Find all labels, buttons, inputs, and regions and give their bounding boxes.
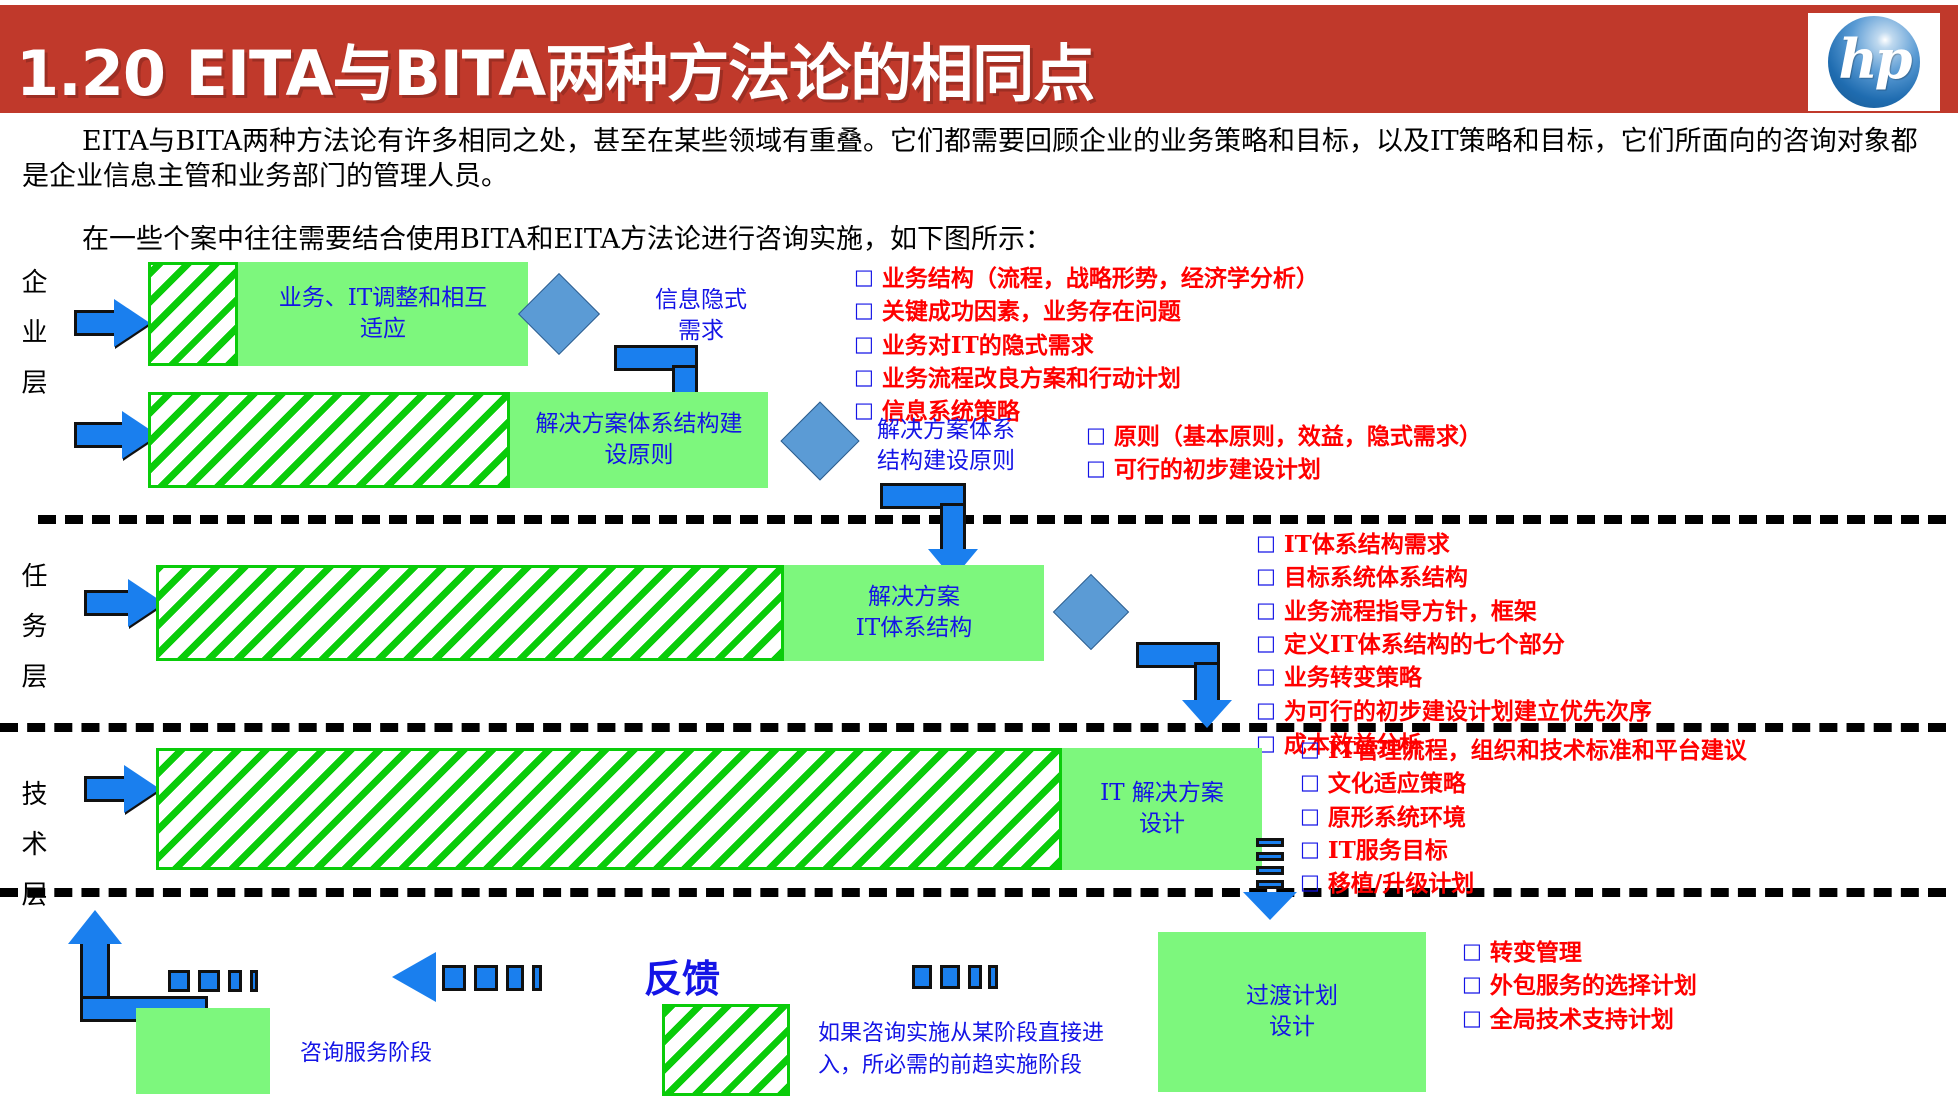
- bullet-box-icon: □: [1086, 453, 1106, 485]
- bullet-item: □业务流程改良方案和行动计划: [854, 362, 1319, 395]
- bullet-box-icon: □: [854, 295, 874, 327]
- feedback-right-dash-3: [968, 965, 982, 989]
- bullet-box-icon: □: [854, 329, 874, 361]
- gate-diamond-row3: [1053, 574, 1129, 650]
- bullet-box-icon: □: [1462, 969, 1482, 1001]
- bullet-box-icon: □: [1300, 834, 1320, 866]
- bullet-item: □IT管理流程，组织和技术标准和平台建议: [1300, 734, 1747, 767]
- bullet-item: □业务转变策略: [1256, 661, 1652, 694]
- bullet-item: □关键成功因素，业务存在问题: [854, 295, 1319, 328]
- bullet-item: □转变管理: [1462, 936, 1697, 969]
- gate-diamond-row1: [518, 273, 600, 355]
- bullet-list-task: □IT体系结构需求 □目标系统体系结构 □业务流程指导方针，框架 □定义IT体系…: [1256, 528, 1652, 761]
- bullet-box-icon: □: [1462, 936, 1482, 968]
- bullet-box-icon: □: [854, 362, 874, 394]
- feedback-left-dash-2: [474, 965, 498, 991]
- bullet-box-icon: □: [1300, 867, 1320, 899]
- bullet-box-icon: □: [1086, 420, 1106, 452]
- prerequisite-hatch-row1: [148, 262, 238, 366]
- feedback-dash-2: [198, 970, 220, 992]
- connector-label-info-implicit-need: 信息隐式 需求: [606, 285, 796, 347]
- prerequisite-hatch-row3: [156, 565, 784, 661]
- bullet-list-technical: □IT管理流程，组织和技术标准和平台建议 □文化适应策略 □原形系统环境 □IT…: [1300, 734, 1747, 901]
- bullet-box-icon: □: [1256, 628, 1276, 660]
- bullet-box-icon: □: [1256, 595, 1276, 627]
- feedback-left-dash-4: [532, 965, 542, 991]
- box-solution-arch-principle-label: 解决方案体系结构建 设原则: [536, 409, 743, 471]
- bullet-box-icon: □: [1300, 734, 1320, 766]
- layer-label-enterprise: 企 业 层: [14, 268, 51, 403]
- feedback-left-dash-1: [442, 965, 466, 991]
- bullet-item: □IT服务目标: [1300, 834, 1747, 867]
- box-transition-plan-design-label: 过渡计划 设计: [1246, 981, 1338, 1043]
- bullet-item: □全局技术支持计划: [1462, 1003, 1697, 1036]
- bullet-item: □原形系统环境: [1300, 801, 1747, 834]
- bullet-item: □为可行的初步建设计划建立优先次序: [1256, 695, 1652, 728]
- prerequisite-hatch-row2: [148, 392, 510, 488]
- bullet-box-icon: □: [854, 262, 874, 294]
- bullet-item: □业务流程指导方针，框架: [1256, 595, 1652, 628]
- feedback-right-dash-4: [988, 965, 998, 989]
- bullet-list-transition: □转变管理 □外包服务的选择计划 □全局技术支持计划: [1462, 936, 1697, 1036]
- bullet-box-icon: □: [1300, 801, 1320, 833]
- legend-swatch-consulting-phase: [136, 1008, 270, 1094]
- feedback-left-dash-3: [506, 965, 524, 991]
- bullet-box-icon: □: [1300, 767, 1320, 799]
- box-it-solution-design: IT 解决方案 设计: [1062, 748, 1262, 870]
- box-solution-it-arch: 解决方案 IT体系结构: [784, 565, 1044, 661]
- box-solution-it-arch-label: 解决方案 IT体系结构: [856, 582, 972, 644]
- connector-label-solution-arch-principle: 解决方案体系 结构建设原则: [856, 415, 1036, 477]
- separator-task-technical: [0, 723, 1946, 732]
- layer-label-task: 任 务 层: [14, 562, 51, 697]
- feedback-label: 反馈: [644, 948, 720, 1003]
- bullet-item: □目标系统体系结构: [1256, 561, 1652, 594]
- inbound-arrow-row1: [74, 300, 150, 346]
- feedback-right-dash-2: [940, 965, 960, 989]
- bullet-box-icon: □: [1256, 528, 1276, 560]
- feedback-dash-3: [228, 970, 242, 992]
- prerequisite-hatch-row4: [156, 748, 1062, 870]
- box-business-it-align-label: 业务、IT调整和相互 适应: [279, 283, 487, 345]
- bullet-item: □可行的初步建设计划: [1086, 453, 1482, 486]
- bullet-box-icon: □: [1256, 561, 1276, 593]
- inbound-arrow-row3: [84, 580, 166, 626]
- gate-diamond-row2: [780, 401, 859, 480]
- separator-enterprise-task: [38, 515, 1946, 524]
- legend-label-consulting-phase: 咨询服务阶段: [300, 1038, 432, 1070]
- bullet-item: □原则（基本原则，效益，隐式需求）: [1086, 420, 1482, 453]
- bullet-item: □业务结构（流程，战略形势，经济学分析）: [854, 262, 1319, 295]
- feedback-right-dash-1: [912, 965, 932, 989]
- box-transition-plan-design: 过渡计划 设计: [1158, 932, 1426, 1092]
- bullet-item: □IT体系结构需求: [1256, 528, 1652, 561]
- bullet-list-enterprise-2: □原则（基本原则，效益，隐式需求） □可行的初步建设计划: [1086, 420, 1482, 487]
- box-it-solution-design-label: IT 解决方案 设计: [1100, 778, 1224, 840]
- box-solution-arch-principle: 解决方案体系结构建 设原则: [510, 392, 768, 488]
- bullet-list-enterprise-1: □业务结构（流程，战略形势，经济学分析） □关键成功因素，业务存在问题 □业务对…: [854, 262, 1319, 429]
- bullet-item: □定义IT体系结构的七个部分: [1256, 628, 1652, 661]
- inbound-arrow-row4: [84, 766, 162, 812]
- legend-swatch-prerequisite-phase: [662, 1004, 790, 1096]
- bullet-box-icon: □: [1256, 695, 1276, 727]
- bullet-box-icon: □: [1256, 661, 1276, 693]
- bullet-item: □文化适应策略: [1300, 767, 1747, 800]
- feedback-dash-4: [250, 970, 258, 992]
- bullet-item: □业务对IT的隐式需求: [854, 329, 1319, 362]
- legend-label-prerequisite-phase: 如果咨询实施从某阶段直接进 入，所必需的前趋实施阶段: [818, 1018, 1148, 1082]
- methodology-diagram: 企 业 层 任 务 层 技 术 层 业务、IT调整和相互 适应 信息隐式 需求 …: [0, 0, 1958, 1102]
- feedback-dash-1: [168, 970, 190, 992]
- box-business-it-align: 业务、IT调整和相互 适应: [238, 262, 528, 366]
- bullet-box-icon: □: [1462, 1003, 1482, 1035]
- bullet-item: □外包服务的选择计划: [1462, 969, 1697, 1002]
- bullet-item: □移植/升级计划: [1300, 867, 1747, 900]
